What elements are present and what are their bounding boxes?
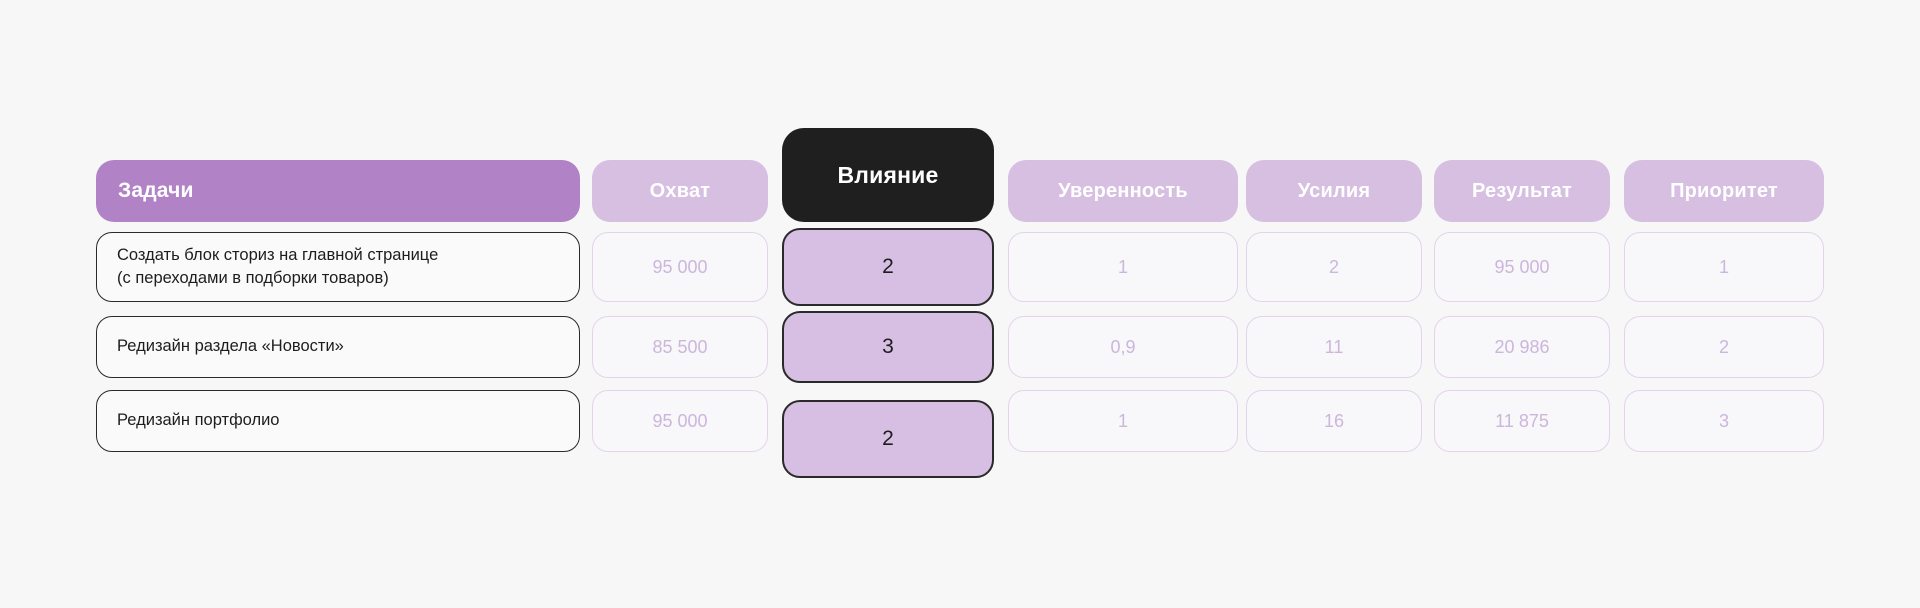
column-header-task[interactable]: Задачи [96, 160, 580, 222]
table-row[interactable]: Создать блок сториз на главной странице … [96, 232, 580, 302]
cell-priority[interactable]: 1 [1624, 232, 1824, 302]
cell-priority[interactable]: 2 [1624, 316, 1824, 378]
task-label-line1: Редизайн раздела «Новости» [117, 335, 344, 358]
column-header-effort[interactable]: Усилия [1246, 160, 1422, 222]
cell-impact[interactable]: 2 [782, 228, 994, 306]
task-label-line2: (с переходами в подборки товаров) [117, 267, 438, 290]
cell-effort[interactable]: 11 [1246, 316, 1422, 378]
cell-confidence[interactable]: 1 [1008, 390, 1238, 452]
cell-confidence[interactable]: 1 [1008, 232, 1238, 302]
cell-priority[interactable]: 3 [1624, 390, 1824, 452]
column-header-confidence[interactable]: Уверенность [1008, 160, 1238, 222]
table-row[interactable]: Редизайн портфолио [96, 390, 580, 452]
cell-effort[interactable]: 16 [1246, 390, 1422, 452]
task-label-line1: Редизайн портфолио [117, 409, 280, 432]
column-header-reach[interactable]: Охват [592, 160, 768, 222]
cell-impact[interactable]: 2 [782, 400, 994, 478]
cell-reach[interactable]: 85 500 [592, 316, 768, 378]
cell-effort[interactable]: 2 [1246, 232, 1422, 302]
cell-result[interactable]: 95 000 [1434, 232, 1610, 302]
column-header-result[interactable]: Результат [1434, 160, 1610, 222]
rice-prioritization-table: Задачи Охват Влияние Уверенность Усилия … [0, 0, 1920, 608]
cell-reach[interactable]: 95 000 [592, 232, 768, 302]
cell-confidence[interactable]: 0,9 [1008, 316, 1238, 378]
column-header-impact[interactable]: Влияние [782, 128, 994, 222]
table-row[interactable]: Редизайн раздела «Новости» [96, 316, 580, 378]
column-header-priority[interactable]: Приоритет [1624, 160, 1824, 222]
cell-impact[interactable]: 3 [782, 311, 994, 383]
cell-reach[interactable]: 95 000 [592, 390, 768, 452]
cell-result[interactable]: 11 875 [1434, 390, 1610, 452]
task-label-line1: Создать блок сториз на главной странице [117, 244, 438, 267]
cell-result[interactable]: 20 986 [1434, 316, 1610, 378]
